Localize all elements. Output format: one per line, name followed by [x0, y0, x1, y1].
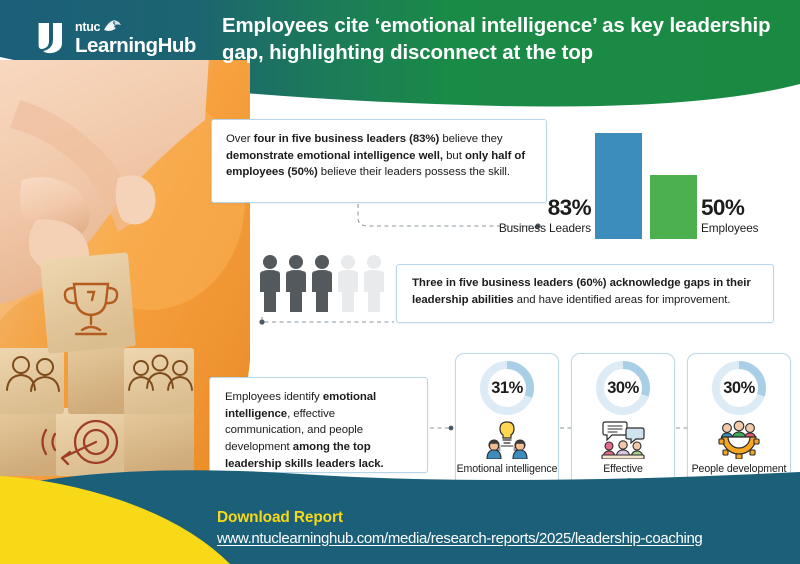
- report-url-link[interactable]: www.ntuclearninghub.com/media/research-r…: [217, 529, 702, 549]
- footer-download-block: Download Report www.ntuclearninghub.com/…: [217, 508, 702, 548]
- donut-value-1: 30%: [594, 359, 652, 417]
- infographic-root: ntuc LearningHub Employees cite ‘emotion…: [0, 0, 800, 564]
- donut-emotional-intelligence: 31%: [478, 359, 536, 417]
- bar-business-leaders: [595, 133, 642, 239]
- donut-value-0: 31%: [478, 359, 536, 417]
- three-in-five-pictogram: [259, 254, 391, 316]
- ntuc-learninghub-logo: ntuc LearningHub: [38, 14, 213, 62]
- person-icon: [364, 255, 384, 312]
- logo-ntuc-text: ntuc: [75, 21, 100, 34]
- person-icon: [286, 255, 306, 312]
- connector-dot: [259, 319, 264, 324]
- person-icon: [260, 255, 280, 312]
- donut-people-development: 30%: [710, 359, 768, 417]
- gear-people-icon: [716, 419, 762, 459]
- person-icon: [312, 255, 332, 312]
- bird-icon: [102, 19, 122, 33]
- stat2-text: Three in five business leaders (60%) ack…: [412, 275, 758, 308]
- logo-u-mark: [38, 19, 68, 57]
- stat1-text: Over four in five business leaders (83%)…: [226, 131, 532, 181]
- download-report-label: Download Report: [217, 508, 702, 527]
- page-title: Employees cite ‘emotional intelligence’ …: [222, 13, 782, 67]
- bar-label-employees: 50% Employees: [701, 197, 793, 235]
- logo-learninghub-text: LearningHub: [75, 35, 196, 57]
- person-icon: [338, 255, 358, 312]
- lightbulb-two-people-icon: [484, 419, 530, 459]
- donut-value-2: 30%: [710, 359, 768, 417]
- speech-bubbles-group-icon: [600, 419, 646, 459]
- stat-callout-leadership-gaps: Three in five business leaders (60%) ack…: [396, 264, 774, 323]
- donut-effective-communication: 30%: [594, 359, 652, 417]
- bar-employees: [650, 175, 697, 239]
- connector-dot: [449, 426, 454, 431]
- stat-callout-emotional-intelligence: Over four in five business leaders (83%)…: [211, 119, 547, 203]
